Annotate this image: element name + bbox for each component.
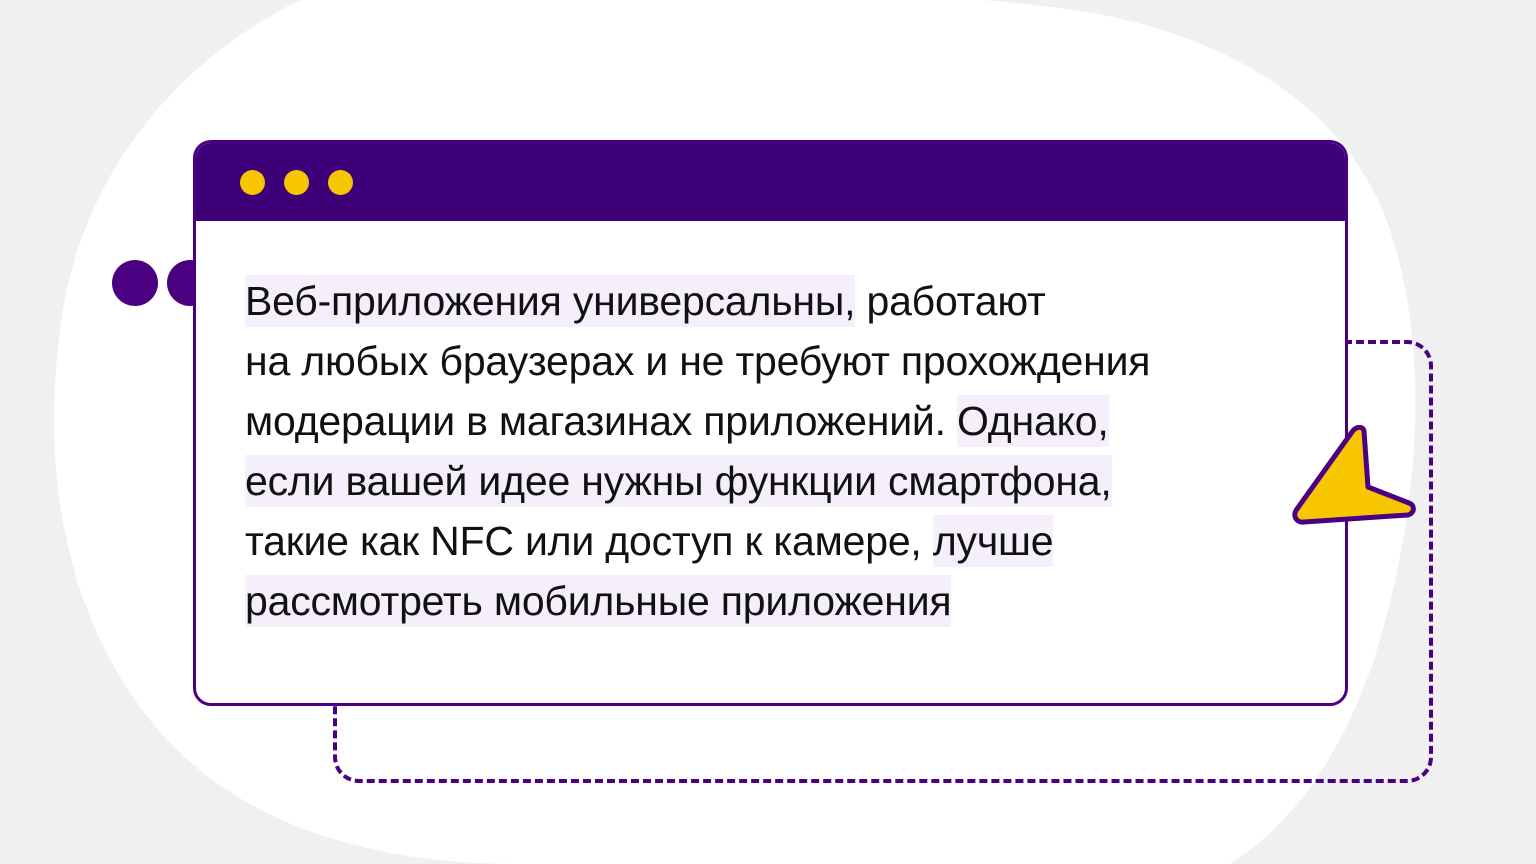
window-dot-2-icon[interactable]	[284, 170, 309, 195]
paragraph-line-5: такие как NFC или доступ к камере, лучше	[245, 511, 1305, 571]
body-paragraph: Веб-приложения универсальны, работаютна …	[245, 271, 1305, 631]
highlighted-text: Однако,	[957, 395, 1109, 447]
slide-canvas: Веб-приложения универсальны, работаютна …	[0, 0, 1536, 864]
plain-text: такие как NFC или доступ к камере,	[245, 518, 933, 564]
highlighted-text: рассмотреть мобильные приложения	[245, 575, 951, 627]
paragraph-line-6: рассмотреть мобильные приложения	[245, 571, 1305, 631]
paragraph-line-3: модерации в магазинах приложений. Однако…	[245, 391, 1305, 451]
plain-text: модерации в магазинах приложений.	[245, 398, 957, 444]
window-dot-1-icon[interactable]	[240, 170, 265, 195]
window-dot-3-icon[interactable]	[328, 170, 353, 195]
browser-window: Веб-приложения универсальны, работаютна …	[193, 140, 1348, 706]
highlighted-text: Веб-приложения универсальны,	[245, 275, 855, 327]
highlighted-text: лучше	[933, 515, 1053, 567]
plain-text: на любых браузерах и не требуют прохожде…	[245, 338, 1150, 384]
paragraph-line-4: если вашей идее нужны функции смартфона,	[245, 451, 1305, 511]
decor-dot-left-1	[112, 260, 158, 306]
window-content-area: Веб-приложения универсальны, работаютна …	[196, 221, 1345, 631]
paragraph-line-1: Веб-приложения универсальны, работают	[245, 271, 1305, 331]
paragraph-line-2: на любых браузерах и не требуют прохожде…	[245, 331, 1305, 391]
plain-text: работают	[855, 278, 1045, 324]
window-title-bar	[196, 143, 1345, 221]
highlighted-text: если вашей идее нужны функции смартфона,	[245, 455, 1112, 507]
cursor-arrow-icon	[1288, 425, 1418, 530]
